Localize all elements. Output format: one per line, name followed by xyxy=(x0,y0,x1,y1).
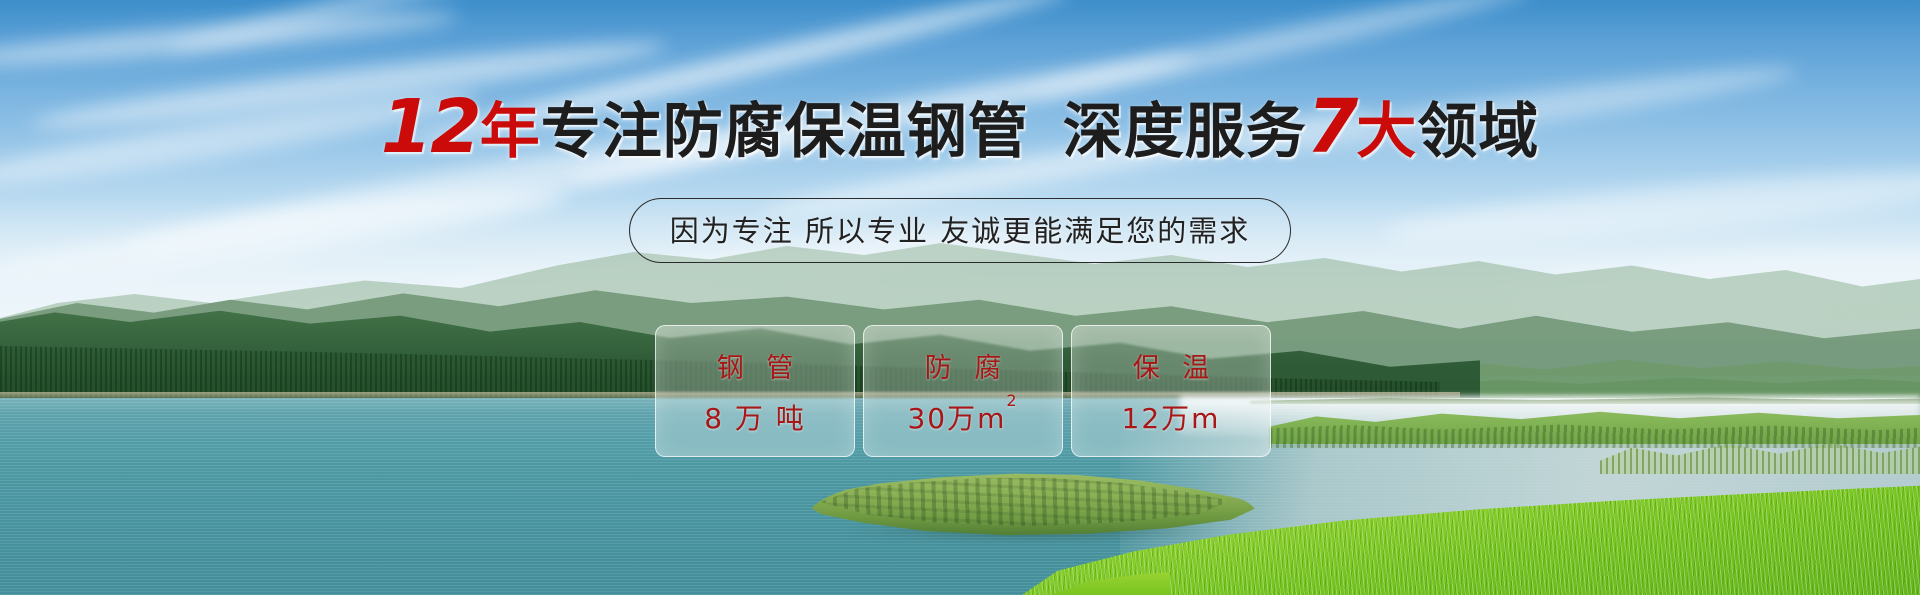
stat-card-anticorrosion[interactable]: 防 腐 30万m2 xyxy=(863,325,1063,457)
cloud-streak-icon xyxy=(164,0,576,61)
stat-card-value: 12万m xyxy=(1122,397,1221,437)
stat-card-insulation[interactable]: 保 温 12万m xyxy=(1071,325,1271,457)
stat-card-title: 钢 管 xyxy=(710,346,801,385)
right-distant-hills-secondary xyxy=(1430,358,1920,394)
stat-card-title: 保 温 xyxy=(1126,346,1217,385)
headline-service-text: 深度服务 xyxy=(1063,97,1307,167)
stat-card-value-main: 12万m xyxy=(1122,402,1221,435)
stat-card-steel-pipe[interactable]: 钢 管 8 万 吨 xyxy=(655,325,855,457)
stat-card-value-superscript: 2 xyxy=(1006,391,1018,410)
subtitle-container: 因为专注 所以专业 友诚更能满足您的需求 xyxy=(0,198,1920,263)
headline: 12年专注防腐保温钢管深度服务7大领域 xyxy=(0,90,1920,164)
stat-card-value: 8 万 吨 xyxy=(704,397,806,437)
stat-card-value: 30万m2 xyxy=(907,397,1018,437)
stat-card-group: 钢 管 8 万 吨 防 腐 30万m2 保 温 12万m xyxy=(655,325,1271,457)
subtitle-pill: 因为专注 所以专业 友诚更能满足您的需求 xyxy=(629,198,1291,263)
headline-fields-number: 7 xyxy=(1307,84,1357,170)
headline-focus-text: 专注防腐保温钢管 xyxy=(541,97,1029,167)
stat-card-value-main: 30万m xyxy=(907,402,1006,435)
headline-fields-unit: 大 xyxy=(1356,97,1417,167)
headline-fields-text: 领域 xyxy=(1417,97,1539,167)
headline-years-number: 12 xyxy=(381,84,480,170)
stat-card-title: 防 腐 xyxy=(918,346,1009,385)
stat-card-value-main: 8 万 吨 xyxy=(704,402,806,435)
hero-banner: 12年专注防腐保温钢管深度服务7大领域 因为专注 所以专业 友诚更能满足您的需求… xyxy=(0,0,1920,595)
cloud-streak-icon xyxy=(0,3,460,74)
headline-years-unit: 年 xyxy=(480,97,541,167)
